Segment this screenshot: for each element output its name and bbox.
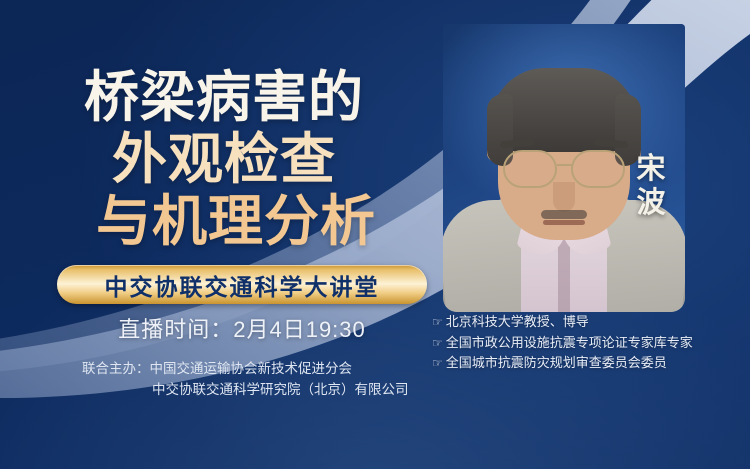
lens-right-shape — [571, 150, 625, 188]
moustache-shape — [541, 210, 587, 219]
title-line-2: 外观检查 — [112, 132, 336, 187]
credential-item: ☞ 全国城市抗震防灾规划审查委员会委员 — [432, 353, 748, 374]
credential-item: ☞ 北京科技大学教授、博导 — [432, 312, 748, 333]
mouth-shape — [543, 220, 585, 225]
organizers-block: 联合主办：中国交通运输协会新技术促进分会 中交协联交通科学研究院（北京）有限公司 — [57, 358, 447, 400]
pointing-hand-icon: ☞ — [432, 334, 443, 354]
credential-item: ☞ 全国市政公用设施抗震专项论证专家库专家 — [432, 333, 748, 354]
speaker-name: 宋 波 — [631, 152, 671, 220]
title-line-1: 桥梁病害的 — [84, 70, 364, 125]
speaker-name-char-1: 宋 — [631, 152, 671, 186]
series-banner: 中交协联交通科学大讲堂 — [57, 265, 427, 304]
title-line-3: 与机理分析 — [96, 194, 376, 249]
live-time-text: 直播时间：2月4日19:30 — [57, 312, 427, 344]
pointing-hand-icon: ☞ — [432, 313, 443, 333]
webinar-poster: 桥梁病害的 外观检查 与机理分析 中交协联交通科学大讲堂 直播时间：2月4日19… — [0, 0, 750, 469]
pointing-hand-icon: ☞ — [432, 354, 443, 374]
nose-shape — [553, 182, 575, 212]
speaker-credentials: ☞ 北京科技大学教授、博导 ☞ 全国市政公用设施抗震专项论证专家库专家 ☞ 全国… — [432, 312, 748, 374]
organizer-line-2: 中交协联交通科学研究院（北京）有限公司 — [57, 379, 447, 400]
series-banner-label: 中交协联交通科学大讲堂 — [105, 268, 380, 302]
credential-text: 北京科技大学教授、博导 — [446, 312, 589, 332]
credential-text: 全国城市抗震防灾规划审查委员会委员 — [446, 353, 667, 373]
organizer-line-1: 联合主办：中国交通运输协会新技术促进分会 — [57, 358, 447, 379]
glasses-bridge-shape — [557, 164, 573, 166]
credential-text: 全国市政公用设施抗震专项论证专家库专家 — [446, 333, 693, 353]
speaker-name-char-2: 波 — [631, 186, 671, 220]
lens-left-shape — [503, 150, 557, 188]
